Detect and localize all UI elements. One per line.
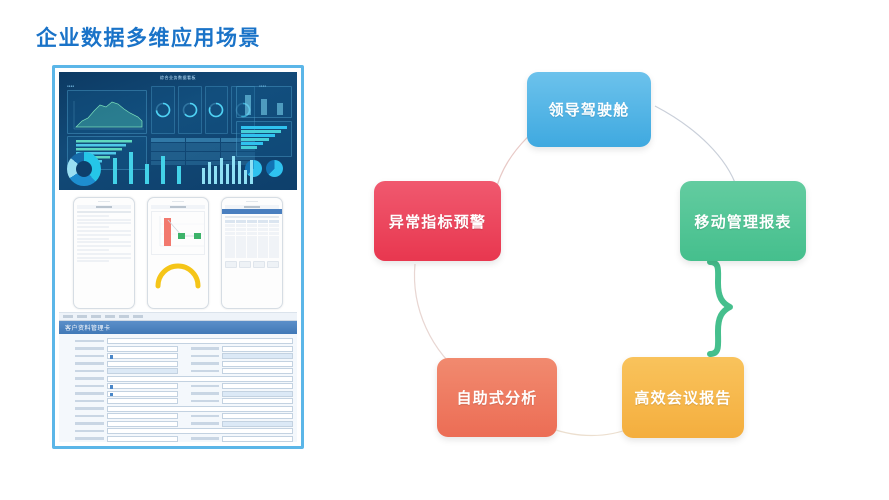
- mobile-reports-section: [59, 190, 297, 312]
- node-self-service-analysis[interactable]: 自助式分析: [437, 358, 557, 437]
- field-input[interactable]: [222, 421, 293, 427]
- phone-titlebar: [151, 205, 205, 209]
- column-series-widget-2: [199, 148, 259, 186]
- product-screenshot-composite: 综合业务数据看板 ●●●● ●●●●: [59, 72, 297, 442]
- field-label: [63, 391, 105, 397]
- crm-form-fields: [63, 338, 293, 439]
- donut-chart-widget: [67, 152, 101, 186]
- field-input[interactable]: [107, 398, 178, 404]
- node-mobile-report[interactable]: 移动管理报表: [680, 181, 806, 261]
- field-input[interactable]: [222, 361, 293, 367]
- field-label: [63, 436, 105, 442]
- column-series-widget: [107, 148, 193, 186]
- bi-dashboard-title: 综合业务数据看板: [59, 75, 297, 81]
- field-input[interactable]: [222, 346, 293, 352]
- field-label: [63, 346, 105, 352]
- gauge-widget: [205, 86, 229, 134]
- node-meeting-report[interactable]: 高效会议报告: [622, 357, 744, 438]
- node-label: 自助式分析: [456, 387, 537, 408]
- cycle-diagram: 领导驾驶舱 移动管理报表 高效会议报告 自助式分析 异常指标预警: [345, 46, 865, 456]
- field-input[interactable]: [222, 368, 293, 374]
- field-input[interactable]: [222, 413, 293, 419]
- node-abnormal-alert[interactable]: 异常指标预警: [374, 181, 501, 261]
- bar-line-chart: [151, 211, 205, 255]
- node-label: 领导驾驶舱: [548, 99, 629, 120]
- field-input[interactable]: [107, 421, 178, 427]
- field-input[interactable]: [222, 383, 293, 389]
- field-checkbox[interactable]: [107, 383, 178, 389]
- phone-titlebar: [77, 205, 131, 209]
- field-label: [63, 338, 105, 344]
- node-label: 高效会议报告: [634, 387, 731, 408]
- phone-blue-header: [222, 209, 282, 214]
- field-label: [180, 353, 220, 359]
- field-input[interactable]: [107, 346, 178, 352]
- area-chart-widget: [67, 90, 147, 134]
- field-label: [180, 346, 220, 352]
- field-label: [180, 398, 220, 404]
- field-label: [63, 413, 105, 419]
- field-label: [180, 383, 220, 389]
- phone-action-buttons[interactable]: [225, 261, 279, 268]
- field-input[interactable]: [107, 436, 178, 442]
- field-input[interactable]: [107, 361, 178, 367]
- field-label: [63, 398, 105, 404]
- field-input[interactable]: [107, 338, 293, 344]
- field-input[interactable]: [222, 391, 293, 397]
- field-label: [180, 368, 220, 374]
- field-label: [63, 368, 105, 374]
- field-input[interactable]: [107, 368, 178, 374]
- field-label: [180, 413, 220, 419]
- page-title: 企业数据多维应用场景: [36, 26, 261, 51]
- field-input[interactable]: [107, 413, 178, 419]
- crm-form-section: 客户资料管理卡: [59, 320, 297, 442]
- gauge-widget: [178, 86, 202, 134]
- crm-form-header: 客户资料管理卡: [59, 321, 297, 334]
- table-phone: [221, 197, 283, 309]
- field-label: [63, 376, 105, 382]
- curly-brace-connector: [702, 259, 736, 359]
- column-chart-widget: [236, 86, 292, 118]
- field-label: [63, 383, 105, 389]
- field-input[interactable]: [107, 406, 293, 412]
- field-input[interactable]: [107, 428, 293, 434]
- bi-label: ●●●●: [67, 84, 74, 88]
- node-leader-cockpit[interactable]: 领导驾驶舱: [527, 72, 651, 147]
- form-list-phone: [73, 197, 135, 309]
- node-label: 移动管理报表: [694, 211, 791, 232]
- field-checkbox[interactable]: [107, 391, 178, 397]
- field-input[interactable]: [107, 376, 293, 382]
- gauge-chart: [151, 257, 205, 291]
- field-label: [63, 421, 105, 427]
- field-label: [63, 406, 105, 412]
- field-label: [180, 391, 220, 397]
- chart-gauge-phone: [147, 197, 209, 309]
- screenshot-toolbar: [59, 312, 297, 320]
- field-label: [63, 353, 105, 359]
- bottom-widgets-row: [67, 144, 292, 186]
- gauge-widget: [151, 86, 175, 134]
- field-input[interactable]: [222, 353, 293, 359]
- field-input[interactable]: [222, 398, 293, 404]
- product-screenshot-frame: 综合业务数据看板 ●●●● ●●●●: [52, 65, 304, 449]
- field-label: [180, 421, 220, 427]
- field-label: [180, 436, 220, 442]
- field-input[interactable]: [222, 436, 293, 442]
- field-label: [180, 361, 220, 367]
- field-checkbox[interactable]: [107, 353, 178, 359]
- node-label: 异常指标预警: [389, 211, 486, 232]
- data-table: [225, 220, 279, 258]
- field-label: [63, 428, 105, 434]
- bi-dashboard-section: 综合业务数据看板 ●●●● ●●●●: [59, 72, 297, 190]
- field-label: [63, 361, 105, 367]
